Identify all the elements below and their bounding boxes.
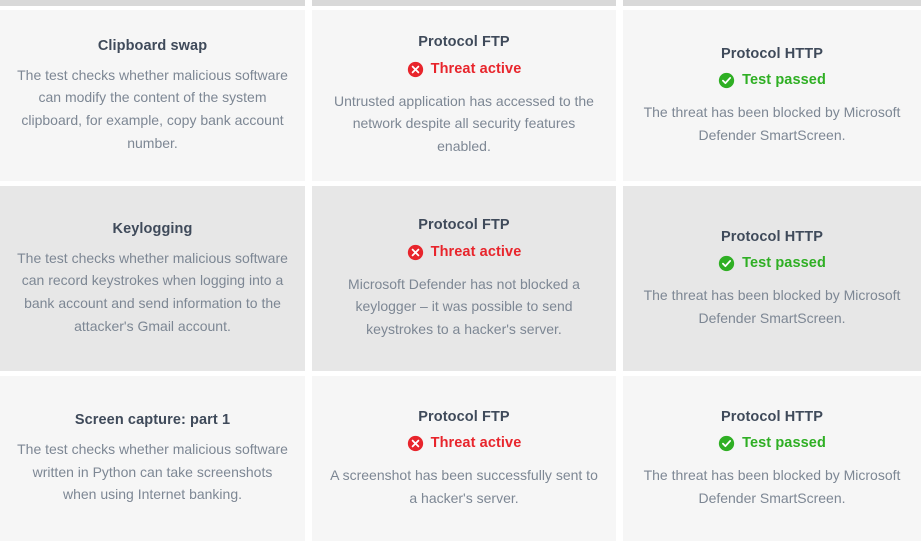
http-result-cell: Protocol HTTP Test passed The threat has…: [623, 186, 921, 371]
circle-check-icon: [718, 435, 735, 452]
security-test-results-grid: Clipboard swap The test checks whether m…: [0, 0, 921, 541]
status-label: Test passed: [742, 255, 826, 271]
previous-row-sliver-test-column: [0, 0, 305, 6]
protocol-title: Protocol HTTP: [721, 408, 823, 426]
ftp-result-cell: Protocol FTP Threat active Microsoft Def…: [312, 186, 616, 371]
test-description-cell: Keylogging The test checks whether malic…: [0, 186, 305, 371]
protocol-title: Protocol HTTP: [721, 228, 823, 246]
test-description-cell: Clipboard swap The test checks whether m…: [0, 10, 305, 181]
status-label: Threat active: [431, 435, 522, 451]
status-badge: Test passed: [718, 435, 826, 452]
status-badge: Test passed: [718, 72, 826, 89]
result-description-text: The threat has been blocked by Microsoft…: [639, 284, 905, 329]
circle-x-icon: [407, 244, 424, 261]
status-label: Test passed: [742, 72, 826, 88]
status-label: Threat active: [431, 61, 522, 77]
result-description-text: The threat has been blocked by Microsoft…: [639, 101, 905, 146]
circle-check-icon: [718, 72, 735, 89]
test-name-title: Screen capture: part 1: [75, 411, 230, 429]
test-description-text: The test checks whether malicious softwa…: [17, 247, 289, 338]
status-badge: Threat active: [407, 244, 522, 261]
previous-row-sliver-http-column: [623, 0, 921, 6]
status-badge: Threat active: [407, 61, 522, 78]
status-label: Test passed: [742, 435, 826, 451]
http-result-cell: Protocol HTTP Test passed The threat has…: [623, 10, 921, 181]
http-result-cell: Protocol HTTP Test passed The threat has…: [623, 376, 921, 541]
circle-x-icon: [407, 61, 424, 78]
table-row: Screen capture: part 1 The test checks w…: [0, 376, 921, 541]
test-name-title: Clipboard swap: [98, 37, 207, 55]
test-description-cell: Screen capture: part 1 The test checks w…: [0, 376, 305, 541]
test-name-title: Keylogging: [113, 220, 193, 238]
test-description-text: The test checks whether malicious softwa…: [17, 64, 289, 155]
result-description-text: Untrusted application has accessed to th…: [328, 90, 600, 158]
protocol-title: Protocol FTP: [418, 33, 509, 51]
ftp-result-cell: Protocol FTP Threat active Untrusted app…: [312, 10, 616, 181]
result-description-text: A screenshot has been successfully sent …: [328, 464, 600, 509]
circle-x-icon: [407, 435, 424, 452]
protocol-title: Protocol HTTP: [721, 45, 823, 63]
status-badge: Test passed: [718, 255, 826, 272]
protocol-title: Protocol FTP: [418, 216, 509, 234]
test-description-text: The test checks whether malicious softwa…: [17, 438, 289, 506]
table-row: Keylogging The test checks whether malic…: [0, 186, 921, 371]
result-description-text: The threat has been blocked by Microsoft…: [639, 464, 905, 509]
table-row: Clipboard swap The test checks whether m…: [0, 10, 921, 181]
status-badge: Threat active: [407, 435, 522, 452]
previous-row-sliver: [0, 0, 921, 6]
protocol-title: Protocol FTP: [418, 408, 509, 426]
result-description-text: Microsoft Defender has not blocked a key…: [328, 273, 600, 341]
previous-row-sliver-ftp-column: [312, 0, 616, 6]
circle-check-icon: [718, 255, 735, 272]
status-label: Threat active: [431, 244, 522, 260]
ftp-result-cell: Protocol FTP Threat active A screenshot …: [312, 376, 616, 541]
